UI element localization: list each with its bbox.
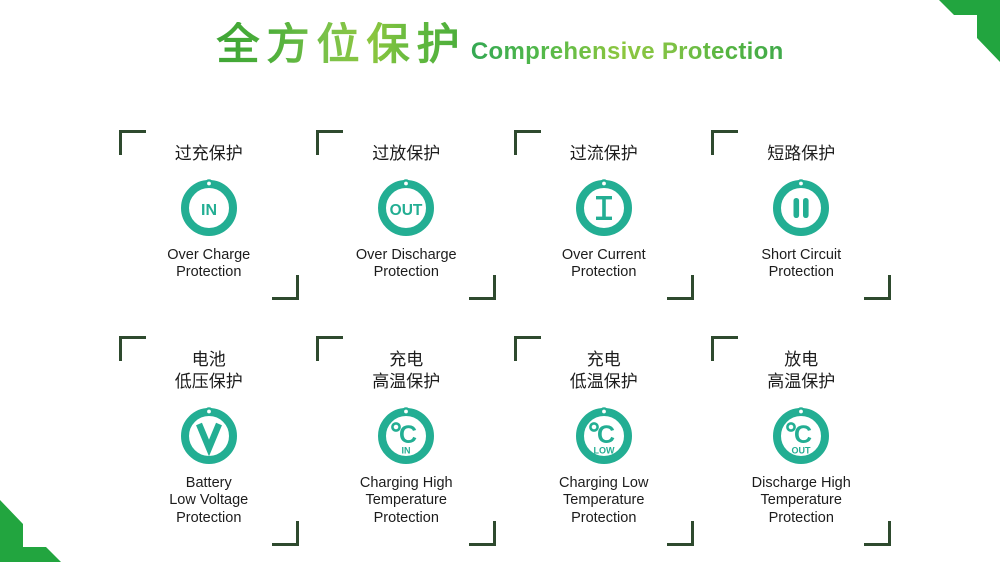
page-title-chinese: 全方位保护 bbox=[216, 22, 466, 68]
protection-card-short-circuit: 短路保护 Short Circuit Protection bbox=[711, 130, 891, 300]
card-label-chinese: 过放保护 bbox=[322, 144, 490, 166]
ring-celsius-out-icon: C OUT bbox=[769, 403, 833, 467]
protection-card-over-current: 过流保护 Over Current Protection bbox=[514, 130, 694, 300]
page-header: 全方位保护 Comprehensive Protection bbox=[0, 22, 1000, 68]
protection-card-charging-high-temp: 充电 高温保护 C IN Charging High Temperature P… bbox=[316, 336, 496, 546]
card-label-chinese: 放电 高温保护 bbox=[717, 350, 885, 394]
ring-in-icon: IN bbox=[177, 175, 241, 239]
svg-text:OUT: OUT bbox=[390, 202, 423, 219]
card-label-chinese: 过流保护 bbox=[520, 144, 688, 166]
ring-celsius-in-icon: C IN bbox=[374, 403, 438, 467]
protection-features-grid: 过充保护 IN Over Charge Protection 过放保护 OUT … bbox=[110, 130, 900, 546]
protection-card-over-discharge: 过放保护 OUT Over Discharge Protection bbox=[316, 130, 496, 300]
card-label-english: Over Current Protection bbox=[520, 247, 688, 282]
card-label-chinese: 过充保护 bbox=[125, 144, 293, 166]
page-title-english: Comprehensive Protection bbox=[471, 38, 784, 66]
card-label-english: Charging Low Temperature Protection bbox=[520, 475, 688, 528]
card-label-english: Battery Low Voltage Protection bbox=[125, 475, 293, 528]
ring-current-icon bbox=[572, 175, 636, 239]
ring-celsius-low-icon: C LOW bbox=[572, 403, 636, 467]
svg-text:LOW: LOW bbox=[593, 445, 614, 455]
svg-text:IN: IN bbox=[201, 202, 217, 219]
protection-card-battery-low-voltage: 电池 低压保护 Battery Low Voltage Protection bbox=[119, 336, 299, 546]
card-label-english: Over Discharge Protection bbox=[322, 247, 490, 282]
ring-out-icon: OUT bbox=[374, 175, 438, 239]
protection-card-discharge-high-temp: 放电 高温保护 C OUT Discharge High Temperature… bbox=[711, 336, 891, 546]
card-label-english: Over Charge Protection bbox=[125, 247, 293, 282]
svg-text:IN: IN bbox=[402, 445, 411, 455]
ring-voltage-icon bbox=[177, 403, 241, 467]
ring-pause-icon bbox=[769, 175, 833, 239]
protection-card-charging-low-temp: 充电 低温保护 C LOW Charging Low Temperature P… bbox=[514, 336, 694, 546]
card-label-chinese: 短路保护 bbox=[717, 144, 885, 166]
svg-text:OUT: OUT bbox=[792, 445, 812, 455]
card-label-english: Discharge High Temperature Protection bbox=[717, 475, 885, 528]
protection-card-over-charge: 过充保护 IN Over Charge Protection bbox=[119, 130, 299, 300]
corner-decoration-bottom-left bbox=[0, 500, 70, 562]
card-label-english: Short Circuit Protection bbox=[717, 247, 885, 282]
card-label-chinese: 充电 高温保护 bbox=[322, 350, 490, 394]
card-label-chinese: 充电 低温保护 bbox=[520, 350, 688, 394]
card-label-english: Charging High Temperature Protection bbox=[322, 475, 490, 528]
card-label-chinese: 电池 低压保护 bbox=[125, 350, 293, 394]
